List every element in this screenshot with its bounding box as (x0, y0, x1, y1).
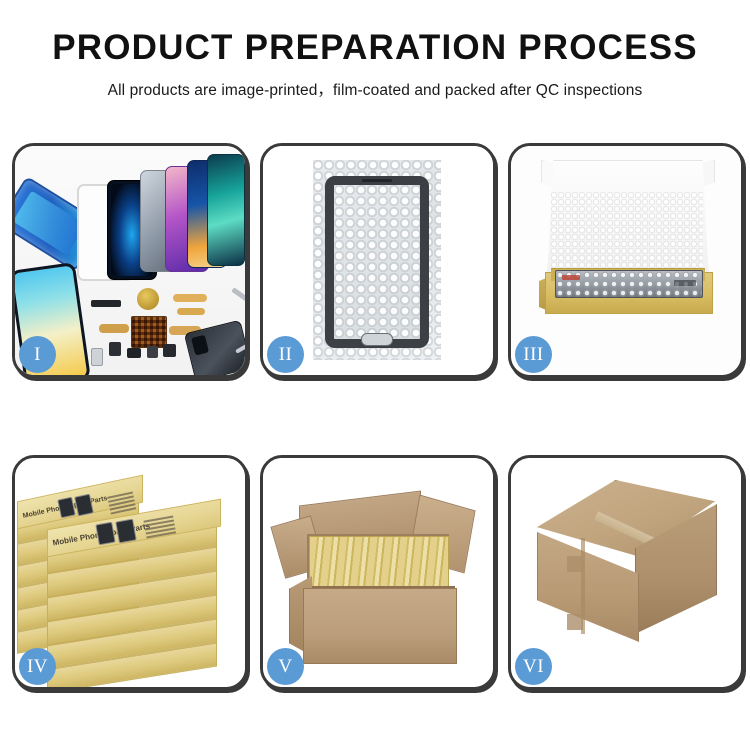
part-small-component-2 (127, 348, 141, 358)
part-tool-1 (231, 287, 245, 301)
step-card-5: V (260, 455, 496, 690)
bubble-wrap-sheet (313, 160, 441, 360)
process-steps-grid: I II (12, 143, 738, 684)
phone-teal (207, 154, 245, 266)
foam-padding (551, 192, 703, 274)
part-small-component-4 (163, 344, 176, 357)
carton-tab-lower (567, 614, 583, 630)
step-badge-4: IV (19, 648, 56, 685)
step-card-2: II (260, 143, 496, 378)
wrapped-screen-in-box (555, 270, 703, 298)
part-flex-cable-1 (173, 294, 207, 302)
step-badge-6: VI (515, 648, 552, 685)
step-card-6: VI (508, 455, 744, 690)
part-copper-coil (137, 288, 159, 310)
carton-tab-upper (567, 556, 583, 572)
part-speaker-strip (91, 300, 121, 307)
product-preparation-infographic: PRODUCT PREPARATION PROCESS All products… (0, 0, 750, 750)
part-small-component-3 (147, 346, 158, 358)
box-art-phone-front-2 (115, 519, 137, 544)
step-badge-2: II (267, 336, 304, 373)
spare-parts-group (85, 286, 245, 374)
step-badge-5: V (267, 648, 304, 685)
box-art-phone-front-1 (95, 522, 115, 546)
step-card-1: I (12, 143, 248, 378)
phone-screen-assembly (325, 176, 429, 348)
part-flex-cable-2 (177, 308, 205, 315)
page-title: PRODUCT PREPARATION PROCESS (0, 30, 750, 65)
step-badge-3: III (515, 336, 552, 373)
header: PRODUCT PREPARATION PROCESS All products… (0, 0, 750, 100)
page-subtitle: All products are image-printed，film-coat… (0, 78, 750, 100)
part-small-component-1 (109, 342, 121, 356)
part-battery-connector (91, 348, 103, 366)
carton-front-face (303, 588, 457, 664)
part-chip-grid (131, 316, 167, 348)
part-flex-cable-3 (99, 324, 129, 333)
step-card-4: Mobile Phone Spare Parts Mobi (12, 455, 248, 690)
step-card-3: III (508, 143, 744, 378)
step-badge-1: I (19, 336, 56, 373)
